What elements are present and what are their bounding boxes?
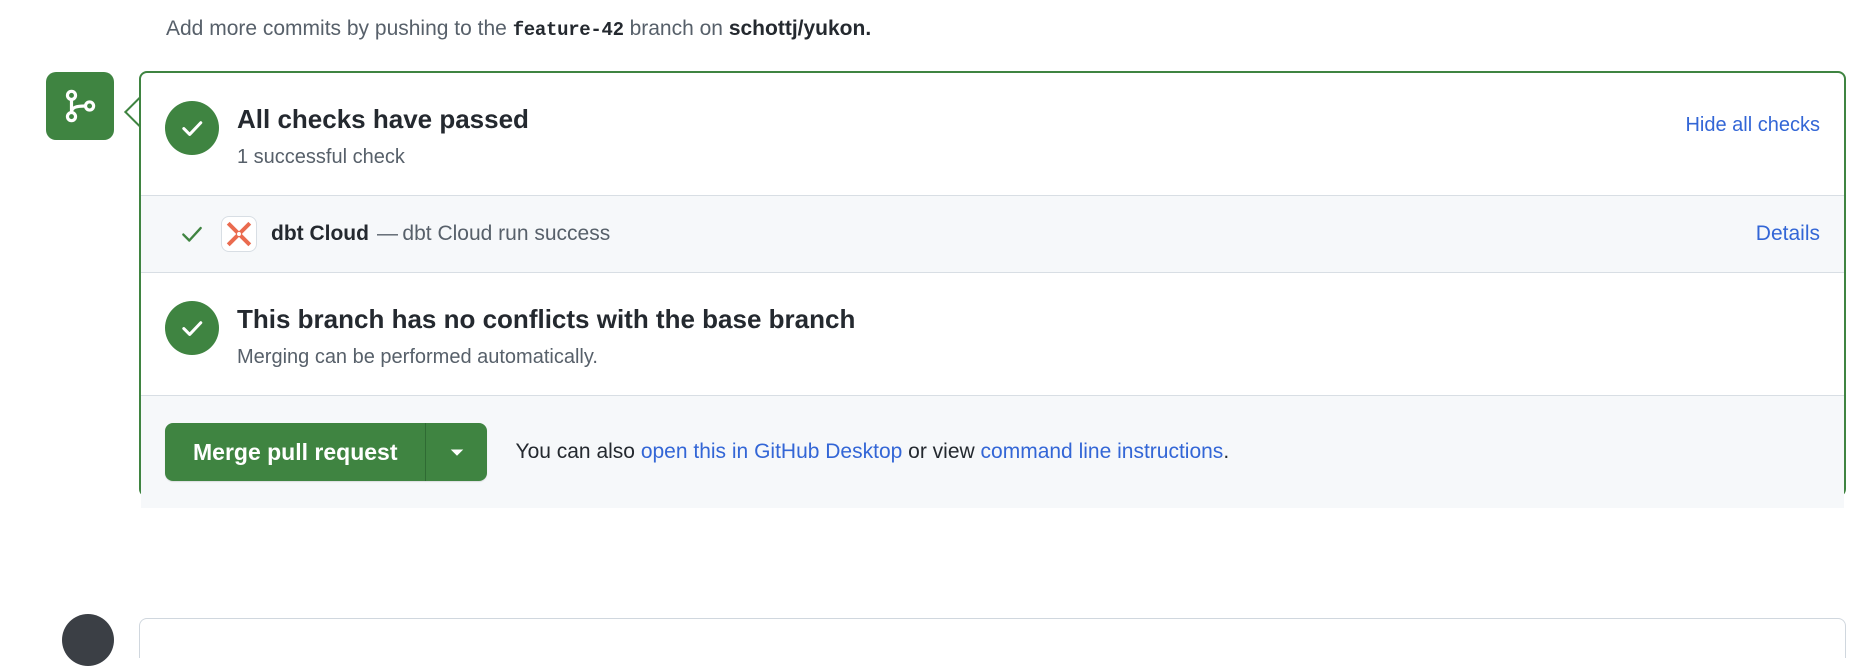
timeline-merge-badge [46,72,114,140]
check-icon [179,221,205,247]
check-name: dbt Cloud [271,222,369,246]
next-comment-box [139,618,1846,658]
checkmark-glyph [178,314,206,342]
merge-status-box: All checks have passed 1 successful chec… [139,71,1846,497]
push-hint-lead: Add more commits by pushing to the [166,17,507,40]
merge-footer: Merge pull request You can also open thi… [141,396,1844,508]
conflicts-title: This branch has no conflicts with the ba… [237,303,855,335]
conflicts-subtitle: Merging can be performed automatically. [237,343,855,371]
checkmark-glyph [178,114,206,142]
checks-summary-subtitle: 1 successful check [237,143,529,171]
merge-button-group: Merge pull request [165,423,487,481]
conflicts-status-row: This branch has no conflicts with the ba… [141,273,1844,395]
open-in-github-desktop-link[interactable]: open this in GitHub Desktop [641,440,902,463]
repository-name: schottj/yukon [729,17,866,40]
push-more-commits-hint: Add more commits by pushing to the featu… [166,14,871,45]
merge-alternatives-note: You can also open this in GitHub Desktop… [515,440,1229,464]
check-circle-icon [165,301,219,355]
hide-all-checks-link[interactable]: Hide all checks [1685,99,1820,139]
check-separator: — [377,222,398,246]
chevron-down-icon [447,442,467,462]
avatar[interactable] [62,614,114,666]
dbt-cloud-logo-icon [221,216,257,252]
checks-summary-row: All checks have passed 1 successful chec… [141,73,1844,195]
merge-note-end: . [1223,440,1229,463]
conflicts-status-text: This branch has no conflicts with the ba… [237,299,855,371]
checks-summary-text: All checks have passed 1 successful chec… [237,99,529,171]
check-description: dbt Cloud run success [402,222,610,246]
branch-name-code: feature-42 [513,19,624,41]
push-hint-period: . [865,17,871,40]
merge-pull-request-button[interactable]: Merge pull request [165,423,425,481]
git-merge-icon [63,89,97,123]
check-details-link[interactable]: Details [1756,222,1820,246]
merge-note-lead: You can also [515,440,635,463]
dbt-x-glyph [224,219,254,249]
check-circle-icon [165,101,219,155]
merge-note-middle: or view [908,440,975,463]
command-line-instructions-link[interactable]: command line instructions [981,440,1224,463]
checks-summary-title: All checks have passed [237,103,529,135]
push-hint-middle: branch on [630,17,723,40]
check-row-dbt-cloud[interactable]: dbt Cloud — dbt Cloud run success Detail… [141,196,1844,272]
merge-options-dropdown-button[interactable] [425,423,487,481]
checkmark-glyph [179,221,205,247]
